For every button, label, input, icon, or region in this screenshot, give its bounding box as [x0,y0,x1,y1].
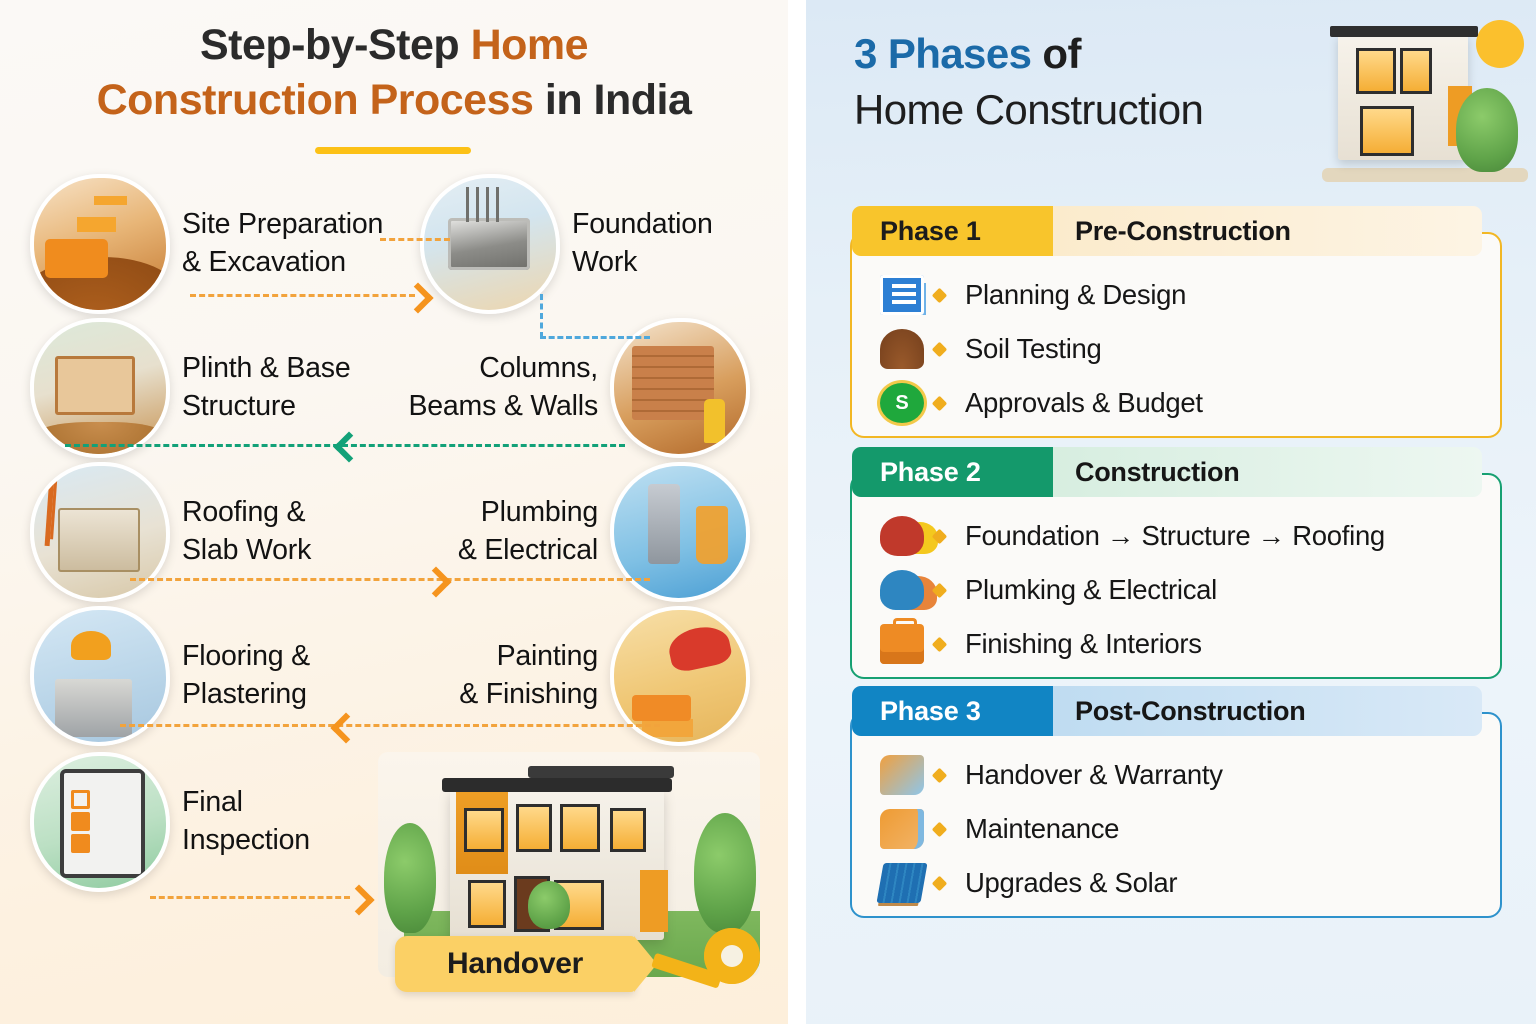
step-label: Roofing & Slab Work [182,494,311,570]
phase-3-header: Phase 3 Post-Construction [852,686,1482,736]
list-item[interactable]: Foundation → Structure → Roofing [852,509,1500,563]
foundation-icon [420,174,560,314]
connector-step1-step2-dots [380,238,450,241]
connector-vertical-blue [540,294,543,338]
chevron-left-icon [330,712,361,743]
phase-1-name: Pre-Construction [1053,206,1482,256]
left-panel-process: Step-by-Step Home Construction Process i… [0,0,788,1024]
list-item-label: Upgrades & Solar [955,867,1177,899]
left-panel-title: Step-by-Step Home Construction Process i… [0,18,788,128]
list-item[interactable]: Maintenance [852,802,1500,856]
process-steps-grid: Site Preparation & Excavation Foundation… [0,172,788,772]
panel-divider [788,0,806,1024]
step-foundation-work[interactable]: Foundation Work [420,174,713,314]
money-coin-icon [880,383,924,423]
right-panel-title: 3 Phases of Home Construction [854,26,1324,138]
list-item-label: Plumking & Electrical [955,574,1217,606]
chevron-right-icon [343,884,374,915]
handover-label: Handover [447,947,583,981]
step-label: Flooring & Plastering [182,638,310,714]
chevron-right-icon [420,566,451,597]
list-item[interactable]: Upgrades & Solar [852,856,1500,910]
connector-row3-orange [130,578,650,581]
step-label: Final Inspection [182,784,310,860]
solar-panel-icon [876,863,927,903]
bullet-icon [932,875,948,891]
phase-card-1[interactable]: Phase 1 Pre-Construction Planning & Desi… [850,232,1502,438]
list-item-label: Maintenance [955,813,1119,845]
list-item[interactable]: Plumking & Electrical [852,563,1500,617]
title-underline-accent [315,147,471,154]
connector-row1-orange [190,294,415,297]
bullet-icon [932,528,948,544]
bullet-icon [932,582,948,598]
worker-icon [880,570,924,610]
phase-2-header: Phase 2 Construction [852,447,1482,497]
phase-3-badge: Phase 3 [852,686,1053,736]
handshake-icon [880,755,924,795]
list-item[interactable]: Soil Testing [852,322,1500,376]
inspection-icon [30,752,170,892]
list-item[interactable]: Approvals & Budget [852,376,1500,430]
title-line1-part2: Home [471,21,588,69]
step-label: Site Preparation & Excavation [182,206,383,282]
handover-banner[interactable]: Handover [395,936,635,992]
step-label: Foundation Work [572,206,713,282]
tree-icon [1456,88,1518,172]
step-site-preparation[interactable]: Site Preparation & Excavation [30,174,383,314]
infographic-root: Step-by-Step Home Construction Process i… [0,0,1536,1024]
bullet-icon [932,341,948,357]
list-item[interactable]: Finishing & Interiors [852,617,1500,671]
step-label: Painting & Finishing [459,638,598,714]
title-line2-part2: in India [533,76,691,124]
phase-1-item-list: Planning & Design Soil Testing Approvals… [852,234,1500,436]
phase-2-item-list: Foundation → Structure → Roofing Plumkin… [852,475,1500,677]
key-icon [650,928,760,1000]
step-roofing-slab[interactable]: Roofing & Slab Work [30,462,311,602]
right-title-line2: Home Construction [854,86,1203,133]
phase-card-3[interactable]: Phase 3 Post-Construction Handover & War… [850,712,1502,918]
right-title-part1: 3 Phases [854,30,1031,77]
columns-icon [610,318,750,458]
list-item[interactable]: Handover & Warranty [852,748,1500,802]
bullet-icon [932,767,948,783]
bullet-icon [932,395,948,411]
right-title-part2: of [1031,30,1081,77]
list-item-label: Planning & Design [955,279,1186,311]
step-label: Plinth & Base Structure [182,350,351,426]
step-plumbing-electrical[interactable]: Plumbing & Electrical [458,462,750,602]
list-item-label: Soil Testing [955,333,1102,365]
excavator-icon [30,174,170,314]
step-columns-beams-walls[interactable]: Columns, Beams & Walls [408,318,750,458]
phase-2-name: Construction [1053,447,1482,497]
bullet-icon [932,821,948,837]
roofing-icon [30,462,170,602]
plumbing-icon [610,462,750,602]
title-line2-part1: Construction Process [97,76,534,124]
phase-card-2[interactable]: Phase 2 Construction Foundation → Struct… [850,473,1502,679]
title-line1-part1: Step-by-Step [200,21,471,69]
phase-2-badge: Phase 2 [852,447,1053,497]
soil-icon [880,329,924,369]
sun-icon [1476,20,1524,68]
connector-to-handover-orange [150,896,350,899]
step-label: Plumbing & Electrical [458,494,598,570]
step-plinth-base[interactable]: Plinth & Base Structure [30,318,351,458]
step-final-inspection[interactable]: Final Inspection [30,752,310,892]
connector-to-columns-blue [540,336,650,339]
team-icon [880,516,924,556]
step-label: Columns, Beams & Walls [408,350,598,426]
phase-3-name: Post-Construction [1053,686,1482,736]
list-item-label: Foundation → Structure → Roofing [955,520,1385,552]
list-item-label: Approvals & Budget [955,387,1203,419]
handshake-alt-icon [880,809,924,849]
list-item-label: Handover & Warranty [955,759,1223,791]
right-panel-phases: 3 Phases of Home Construction Phase 1 Pr… [806,0,1536,1024]
toolbox-icon [880,624,924,664]
list-item[interactable]: Planning & Design [852,268,1500,322]
plinth-icon [30,318,170,458]
phase-3-item-list: Handover & Warranty Maintenance Upgrades… [852,714,1500,916]
phase-1-badge: Phase 1 [852,206,1053,256]
list-item-label: Finishing & Interiors [955,628,1202,660]
blueprint-icon [880,275,924,315]
phase-1-header: Phase 1 Pre-Construction [852,206,1482,256]
bullet-icon [932,636,948,652]
bullet-icon [932,287,948,303]
connector-row4-orange [120,724,660,727]
modern-house-illustration [1278,8,1528,188]
